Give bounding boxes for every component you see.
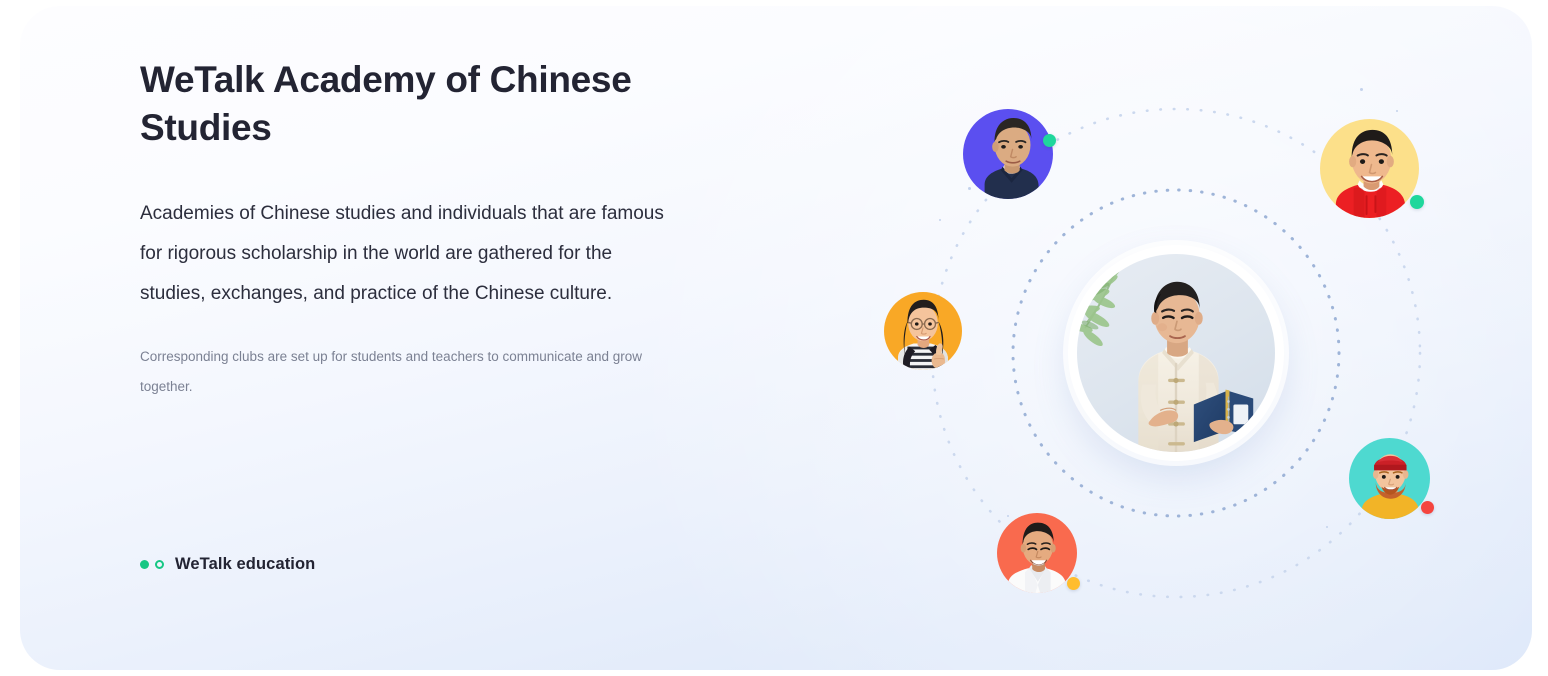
avatar-coral-image: [997, 513, 1077, 593]
speck-a: [968, 187, 971, 190]
instructor-figure: [1077, 254, 1275, 452]
avatar-orange[interactable]: [884, 292, 962, 370]
subcopy-paragraph: Corresponding clubs are set up for stude…: [140, 342, 670, 402]
avatar-yellow-status: [1410, 195, 1424, 209]
avatar-teal-figure: [1349, 438, 1430, 519]
page-title: WeTalk Academy of Chinese Studies: [140, 56, 660, 152]
center-portrait-image: [1077, 254, 1275, 452]
speck-f: [1007, 515, 1009, 517]
avatar-yellow-image: [1320, 119, 1419, 218]
filled-dot-icon: [140, 560, 149, 569]
avatar-orange-figure: [884, 292, 962, 370]
avatar-coral[interactable]: [997, 513, 1077, 593]
speck-b: [939, 219, 941, 221]
speck-c: [1360, 88, 1363, 91]
brand-dots: [140, 560, 164, 569]
avatar-yellow-figure: [1320, 119, 1419, 218]
center-portrait: [1068, 245, 1284, 461]
brand-footer: WeTalk education: [140, 555, 315, 574]
lede-paragraph: Academies of Chinese studies and individ…: [140, 194, 665, 314]
avatar-orange-image: [884, 292, 962, 370]
avatar-purple[interactable]: [963, 109, 1053, 199]
avatar-coral-status: [1067, 577, 1080, 590]
hollow-dot-icon: [155, 560, 164, 569]
avatar-teal-status: [1421, 501, 1434, 514]
avatar-teal-image: [1349, 438, 1430, 519]
avatar-yellow[interactable]: [1320, 119, 1419, 218]
hero-card: WeTalk Academy of Chinese Studies Academ…: [20, 6, 1532, 670]
speck-g: [1326, 526, 1328, 528]
avatar-purple-figure: [963, 109, 1053, 199]
avatar-purple-image: [963, 109, 1053, 199]
brand-name: WeTalk education: [175, 555, 315, 574]
avatar-coral-figure: [997, 513, 1077, 593]
copy-column: WeTalk Academy of Chinese Studies Academ…: [140, 56, 685, 402]
avatar-teal[interactable]: [1349, 438, 1430, 519]
avatar-purple-status: [1043, 134, 1056, 147]
speck-d: [1396, 110, 1398, 112]
